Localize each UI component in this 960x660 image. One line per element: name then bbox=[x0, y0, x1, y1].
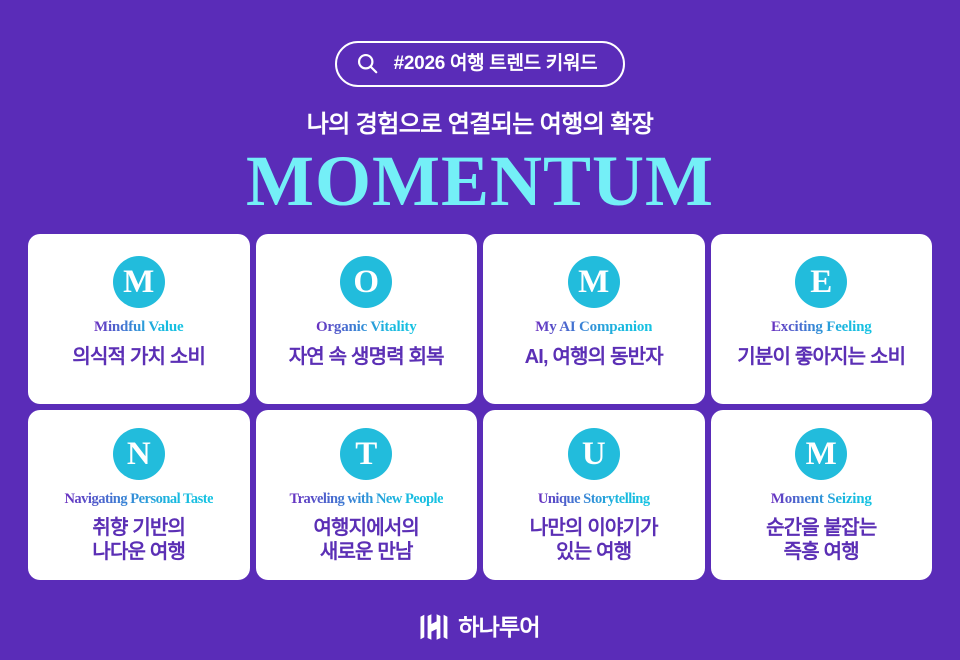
keyword-card-grid: MMindful Value의식적 가치 소비OOrganic Vitality… bbox=[28, 234, 932, 580]
keyword-card[interactable]: MMy AI CompanionAI, 여행의 동반자 bbox=[483, 234, 705, 404]
keyword-card[interactable]: MMindful Value의식적 가치 소비 bbox=[28, 234, 250, 404]
card-letter-badge: M bbox=[113, 256, 165, 308]
card-korean-line: AI, 여행의 동반자 bbox=[525, 346, 663, 368]
keyword-card[interactable]: UUnique Storytelling나만의 이야기가있는 여행 bbox=[483, 410, 705, 580]
card-korean-line: 기분이 좋아지는 소비 bbox=[737, 346, 905, 368]
card-english-label: Unique Storytelling bbox=[538, 491, 650, 508]
card-korean-label: 자연 속 생명력 회복 bbox=[289, 345, 444, 369]
card-korean-line: 새로운 만남 bbox=[320, 541, 413, 563]
card-korean-line: 있는 여행 bbox=[556, 541, 631, 563]
card-english-label: Exciting Feeling bbox=[771, 319, 872, 336]
footer-brand: 하나투어 bbox=[0, 614, 960, 640]
card-korean-line: 순간을 붙잡는 bbox=[766, 517, 876, 539]
card-letter-badge: U bbox=[568, 428, 620, 480]
card-korean-label: 기분이 좋아지는 소비 bbox=[737, 345, 905, 369]
card-korean-label: 취향 기반의나다운 여행 bbox=[92, 516, 185, 565]
search-icon bbox=[355, 51, 380, 76]
keyword-card[interactable]: OOrganic Vitality자연 속 생명력 회복 bbox=[256, 234, 478, 404]
keyword-card[interactable]: MMoment Seizing순간을 붙잡는즉흥 여행 bbox=[711, 410, 933, 580]
card-korean-label: 여행지에서의새로운 만남 bbox=[313, 516, 419, 565]
brand-name: 하나투어 bbox=[458, 616, 539, 639]
keyword-card[interactable]: NNavigating Personal Taste취향 기반의나다운 여행 bbox=[28, 410, 250, 580]
card-korean-line: 여행지에서의 bbox=[313, 517, 419, 539]
card-letter-badge: M bbox=[795, 428, 847, 480]
card-english-label: Mindful Value bbox=[94, 319, 184, 336]
card-korean-line: 취향 기반의 bbox=[92, 517, 185, 539]
card-english-label: My AI Companion bbox=[535, 319, 652, 336]
card-letter-badge: M bbox=[568, 256, 620, 308]
card-letter-badge: N bbox=[113, 428, 165, 480]
card-korean-line: 자연 속 생명력 회복 bbox=[289, 346, 444, 368]
hero-subtitle: 나의 경험으로 연결되는 여행의 확장 bbox=[0, 113, 960, 137]
hanatour-logo-icon bbox=[420, 614, 448, 640]
card-korean-line: 나다운 여행 bbox=[92, 541, 185, 563]
card-korean-label: 나만의 이야기가있는 여행 bbox=[530, 516, 658, 565]
card-english-label: Moment Seizing bbox=[771, 491, 872, 508]
card-english-label: Traveling with New People bbox=[289, 491, 443, 508]
card-english-label: Organic Vitality bbox=[316, 319, 417, 336]
card-english-label: Navigating Personal Taste bbox=[64, 491, 213, 508]
card-letter-badge: E bbox=[795, 256, 847, 308]
card-korean-line: 나만의 이야기가 bbox=[530, 517, 658, 539]
card-korean-line: 즉흥 여행 bbox=[784, 541, 859, 563]
card-korean-line: 의식적 가치 소비 bbox=[72, 346, 205, 368]
card-letter-badge: T bbox=[340, 428, 392, 480]
card-korean-label: 순간을 붙잡는즉흥 여행 bbox=[766, 516, 876, 565]
header-bar: #2026 여행 트렌드 키워드 bbox=[0, 41, 960, 87]
keyword-card[interactable]: TTraveling with New People여행지에서의새로운 만남 bbox=[256, 410, 478, 580]
card-korean-label: AI, 여행의 동반자 bbox=[525, 345, 663, 369]
card-letter-badge: O bbox=[340, 256, 392, 308]
keyword-card[interactable]: EExciting Feeling기분이 좋아지는 소비 bbox=[711, 234, 933, 404]
card-korean-label: 의식적 가치 소비 bbox=[72, 345, 205, 369]
hashtag-pill[interactable]: #2026 여행 트렌드 키워드 bbox=[335, 41, 626, 87]
hashtag-label: #2026 여행 트렌드 키워드 bbox=[394, 54, 598, 73]
hero-title: MOMENTUM bbox=[0, 145, 960, 217]
